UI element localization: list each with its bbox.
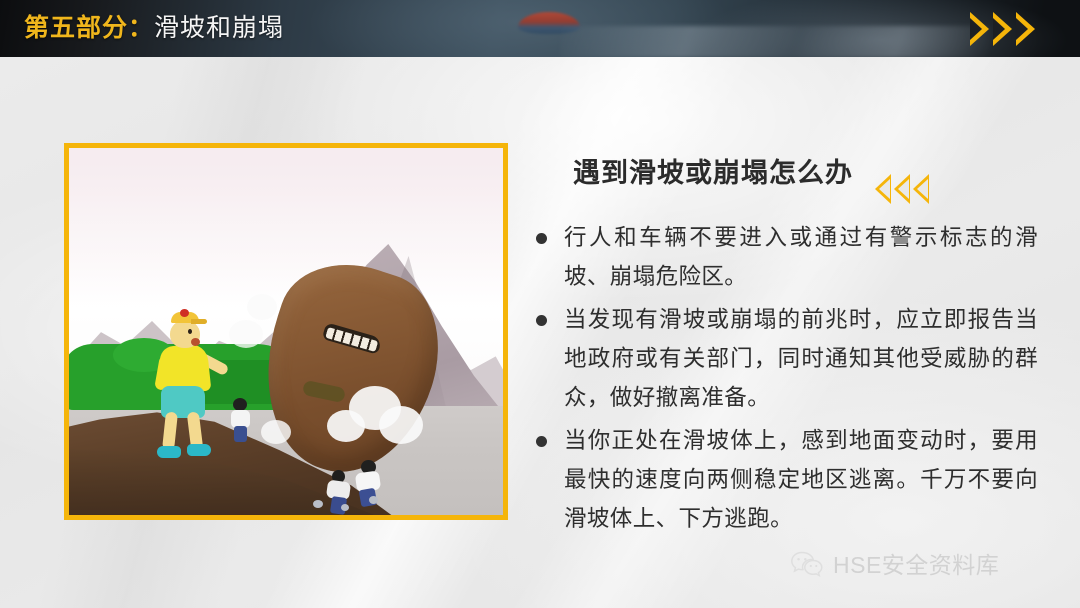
person-cap-brim: [191, 319, 207, 324]
bullet-list: 行人和车辆不要进入或通过有警示标志的滑坡、崩塌危险区。 当发现有滑坡或崩塌的前兆…: [528, 218, 1038, 538]
illustration-frame: [64, 143, 508, 520]
list-item: 当发现有滑坡或崩塌的前兆时，应立即报告当地政府或有关部门，同时通知其他受威胁的群…: [528, 300, 1038, 417]
section-label: 第五部分：: [24, 14, 154, 42]
dust-cloud-3: [327, 410, 365, 442]
standing-person: [155, 312, 231, 468]
person-cap-button: [180, 309, 189, 317]
header-title: 第五部分：滑坡和崩塌: [24, 11, 284, 45]
list-item: 行人和车辆不要进入或通过有警示标志的滑坡、崩塌危险区。: [528, 218, 1038, 296]
debris-rock-2: [341, 504, 349, 511]
bullet-dot-icon: [536, 233, 547, 244]
person-shoe-left: [157, 446, 181, 458]
person-mouth: [191, 338, 200, 346]
chevron-right-icon-1: [970, 12, 989, 46]
bullet-dot-icon: [536, 315, 547, 326]
header-photo-ridge: [560, 26, 990, 57]
debris-rock-3: [369, 496, 378, 504]
section-name: 滑坡和崩塌: [154, 14, 284, 42]
child-legs: [234, 426, 247, 442]
watermark-text: HSE安全资料库: [833, 546, 999, 580]
page-title: 遇到滑坡或崩塌怎么办: [573, 151, 853, 190]
chevron-right-icon-2: [993, 12, 1012, 46]
watermark: HSE安全资料库: [790, 546, 999, 580]
dust-cloud-7: [261, 420, 291, 444]
chevron-right-icon: [970, 12, 1062, 46]
person-leg-left: [162, 411, 178, 450]
chevron-left-icon-2: [894, 174, 910, 204]
heading-row: 遇到滑坡或崩塌怎么办: [528, 148, 1038, 196]
wechat-icon: [790, 550, 824, 577]
content-column: 遇到滑坡或崩塌怎么办 行人和车辆不要进入或通过有警示标志的滑坡、崩塌危险区。 当…: [528, 148, 1038, 542]
person-shoe-right: [187, 444, 211, 456]
dust-cloud-2: [379, 406, 423, 444]
list-item: 当你正处在滑坡体上，感到地面变动时，要用最快的速度向两侧稳定地区逃离。千万不要向…: [528, 421, 1038, 538]
list-item-text: 当你正处在滑坡体上，感到地面变动时，要用最快的速度向两侧稳定地区逃离。千万不要向…: [564, 428, 1038, 531]
header-bar: 第五部分：滑坡和崩塌: [0, 0, 1080, 57]
chevron-left-icon: [875, 174, 931, 204]
standing-child: [229, 398, 255, 442]
chevron-left-icon-1: [875, 174, 891, 204]
sky: [69, 148, 503, 302]
landslide-illustration: [69, 148, 503, 515]
debris-rock-1: [313, 500, 323, 508]
chevron-left-icon-3: [913, 174, 929, 204]
chevron-right-icon-3: [1016, 12, 1035, 46]
dust-cloud-5: [229, 320, 263, 348]
slide: 第五部分：滑坡和崩塌: [0, 0, 1080, 608]
bullet-dot-icon: [536, 436, 547, 447]
list-item-text: 行人和车辆不要进入或通过有警示标志的滑坡、崩塌危险区。: [564, 225, 1038, 289]
dust-cloud-4: [247, 294, 277, 320]
list-item-text: 当发现有滑坡或崩塌的前兆时，应立即报告当地政府或有关部门，同时通知其他受威胁的群…: [564, 307, 1038, 410]
person-eye: [188, 329, 192, 334]
